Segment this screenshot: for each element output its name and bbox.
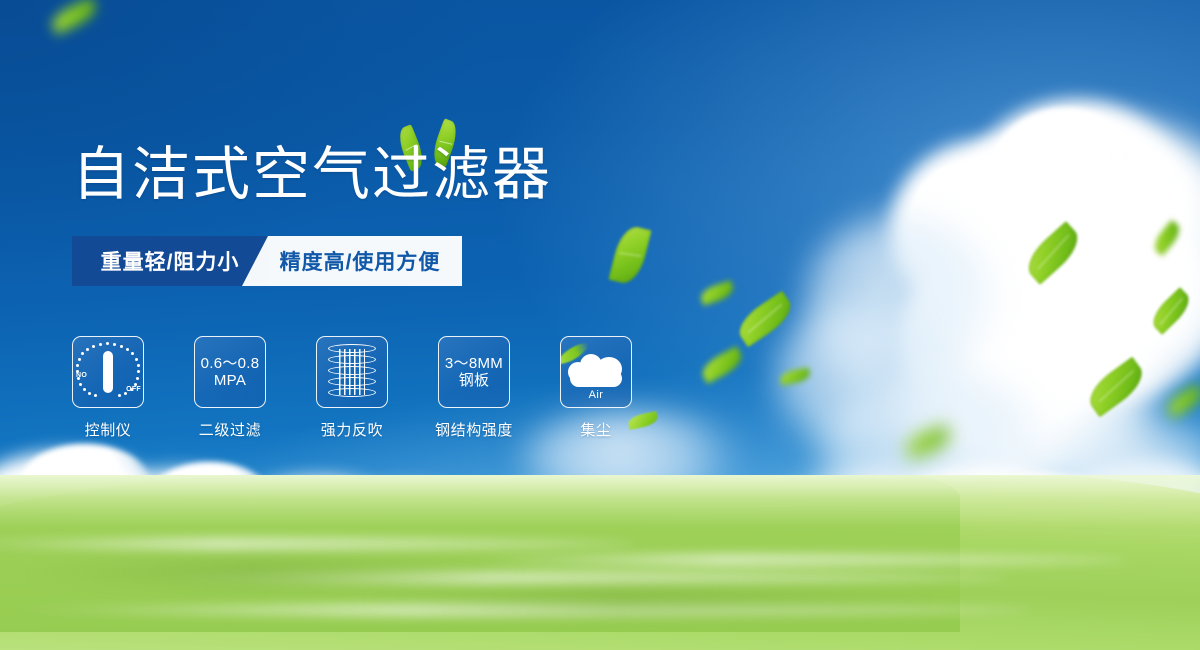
subtitle-left-text: 重量轻/阻力小 <box>101 246 240 276</box>
feature-item-back-blow[interactable]: 强力反吹 <box>316 336 388 440</box>
dial-label-off: OFF <box>126 386 141 393</box>
dial-gauge-icon: NO OFF <box>77 342 139 402</box>
feature-item-dust-collect[interactable]: Air 集尘 <box>560 336 632 440</box>
subtitle-right-text: 精度高/使用方便 <box>264 246 441 276</box>
feature-item-two-stage[interactable]: 0.6～0.8 MPA 二级过滤 <box>194 336 266 440</box>
feature-label-steel-strength: 钢结构强度 <box>435 419 513 440</box>
page-title: 自洁式空气过滤器 <box>72 146 552 204</box>
subtitle-badge-left: 重量轻/阻力小 <box>72 236 268 286</box>
feature-label-dust-collect: 集尘 <box>580 419 611 440</box>
feature-item-controller[interactable]: NO OFF 控制仪 <box>72 336 144 440</box>
steel-text-icon: 3～8MM 钢板 <box>445 355 503 390</box>
feature-item-steel-strength[interactable]: 3～8MM 钢板 钢结构强度 <box>438 336 510 440</box>
feature-box-two-stage: 0.6～0.8 MPA <box>194 336 266 408</box>
feature-box-dust-collect: Air <box>560 336 632 408</box>
filter-coil-icon <box>328 344 376 400</box>
subtitle-bar: 重量轻/阻力小 精度高/使用方便 <box>72 236 462 286</box>
grass-field <box>0 475 1200 650</box>
promo-banner: 自洁式空气过滤器 重量轻/阻力小 精度高/使用方便 <box>0 0 1200 650</box>
dial-needle <box>103 351 113 393</box>
feature-label-two-stage: 二级过滤 <box>199 419 261 440</box>
feature-box-back-blow <box>316 336 388 408</box>
feature-box-controller: NO OFF <box>72 336 144 408</box>
pressure-text-icon: 0.6～0.8 MPA <box>201 355 260 390</box>
air-cloud-icon: Air <box>566 346 626 398</box>
dial-label-no: NO <box>76 372 87 379</box>
feature-label-controller: 控制仪 <box>85 419 132 440</box>
feature-label-back-blow: 强力反吹 <box>321 419 383 440</box>
subtitle-badge-right: 精度高/使用方便 <box>242 236 462 286</box>
air-label: Air <box>566 389 626 401</box>
feature-box-steel-strength: 3～8MM 钢板 <box>438 336 510 408</box>
feature-list: NO OFF 控制仪 0.6～0.8 MPA 二级过滤 <box>72 336 632 440</box>
